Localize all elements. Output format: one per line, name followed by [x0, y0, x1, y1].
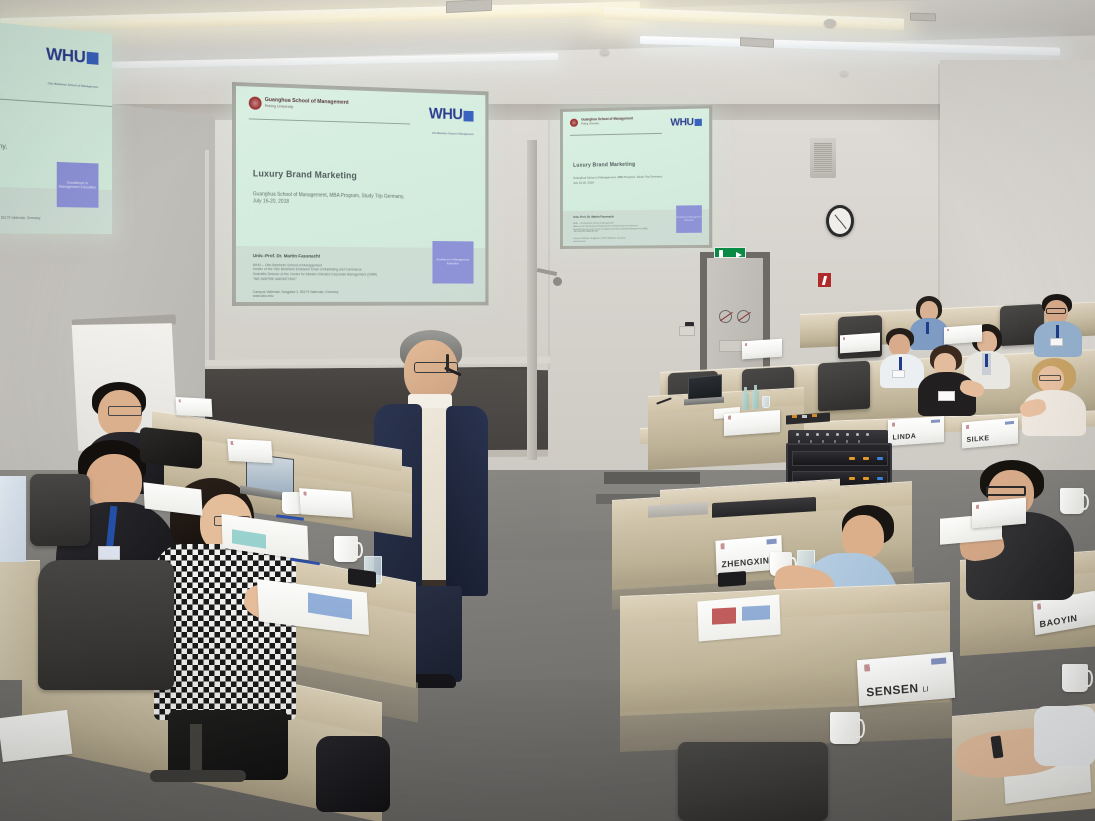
name-tent-back-3: [944, 325, 982, 345]
guanghua-seal-icon: [249, 96, 262, 109]
headset-band: [446, 354, 449, 372]
slide-left-foot: Campus Vallendar, Burgplatz 2, 56179 Val…: [0, 215, 40, 225]
tent-logo-icon: [947, 328, 957, 331]
control-box-led-2: [802, 415, 807, 418]
guanghua-line2: Peking University: [265, 105, 349, 112]
tent-logo-icon: [231, 441, 243, 445]
whu-square-2: [694, 119, 701, 126]
head: [889, 334, 910, 356]
tent-logo-icon: [864, 662, 889, 672]
slide-address-2: Campus Vallendar, Burgplatz 2, 56179 Val…: [573, 237, 625, 243]
phone-on-desk-1[interactable]: [718, 571, 746, 587]
name-tent-sensen: SENSEN LI: [857, 652, 955, 706]
guanghua-logo: Guanghua School of Management Peking Uni…: [249, 96, 349, 112]
bag-on-floor: [140, 427, 202, 470]
whu-logo-2: WHU: [670, 118, 701, 128]
wall-speaker: [810, 138, 836, 178]
exit-door[interactable]: [707, 258, 763, 380]
tent-logo-icon: [303, 491, 317, 496]
name-badge: [98, 546, 120, 560]
tent-logo-icon: [976, 503, 990, 508]
whu-square-left: [86, 52, 98, 65]
lanyard: [1056, 325, 1059, 339]
tent-logo-icon: [720, 542, 737, 549]
slide-presenter-name: Univ.-Prof. Dr. Martin Fassnacht: [253, 253, 320, 258]
backpack-foreground: [316, 736, 390, 812]
tent-logo-icon: [745, 342, 755, 346]
person-foreground-right: [956, 700, 1095, 821]
wall-clock: [826, 205, 854, 237]
chair-left-2[interactable]: [38, 560, 174, 690]
coffee-mug-6: [334, 536, 358, 562]
slide-subtitle-2: Guanghua School of Management, MBA Progr…: [573, 175, 662, 185]
whu-square: [463, 111, 473, 122]
board-side-panel: [527, 140, 537, 460]
name-badge: [892, 370, 905, 378]
guanghua-logo-2: Guanghua School of Management Peking Uni…: [570, 117, 633, 126]
wall-seam-2: [548, 120, 550, 370]
tent-logo-icon: [892, 421, 907, 426]
fire-extinguisher-sign: [817, 272, 832, 288]
drinking-glass-1: [762, 396, 770, 408]
name-tent-left-1: [227, 439, 272, 463]
tent-logo-icon: [1037, 601, 1053, 609]
tent-logo-icon: [178, 399, 187, 402]
smoke-detector-icon-3: [840, 71, 848, 76]
slide-presenter-name-2: Univ.-Prof. Dr. Martin Fassnacht: [573, 216, 614, 219]
tent-name: SENSEN LI: [866, 680, 929, 699]
control-box-led-3: [812, 414, 817, 417]
lanyard: [899, 357, 902, 371]
tent-left-edge: [0, 476, 26, 562]
slide-left-badge: Excellence in Management Education: [57, 162, 98, 208]
floor-step: [604, 472, 700, 484]
tent-logo-right-icon: [1005, 420, 1014, 424]
handout-accent-1: [712, 607, 736, 624]
control-box-led-1: [792, 415, 797, 418]
slide-presenter-details-2: WHU – Otto Beisheim School of Management…: [573, 222, 648, 234]
tent-name: SILKE: [966, 435, 989, 444]
slide-title-2: Luxury Brand Marketing: [573, 162, 635, 169]
chair-left-1[interactable]: [30, 474, 90, 546]
name-tent-far-right-extra: [972, 498, 1026, 529]
whu-tagline-left: Otto Beisheim School of Management: [48, 81, 98, 89]
coffee-mug-4: [830, 712, 860, 744]
whu-wordmark: WHU: [429, 108, 463, 123]
name-tent-linda: LINDA: [888, 416, 944, 446]
glasses: [986, 486, 1026, 496]
sleeve: [1034, 706, 1095, 766]
tent-name: BAOYIN: [1039, 613, 1078, 630]
slide-excellence-badge: Excellence in Management Education: [432, 241, 473, 283]
slide-main: Guanghua School of Management Peking Uni…: [236, 86, 485, 302]
chair-foreground-right[interactable]: [678, 742, 828, 821]
tent-logo-icon: [966, 423, 981, 428]
tent-logo-icon: [843, 336, 853, 340]
slide-title: Luxury Brand Marketing: [253, 168, 357, 180]
slide-secondary: Guanghua School of Management Peking Uni…: [563, 108, 709, 246]
name-badge: [1050, 338, 1063, 346]
tent-logo-right-icon: [931, 657, 947, 665]
chair-left-base: [150, 770, 246, 782]
whu-logo-main: WHU: [429, 108, 474, 123]
ceiling-vent-3: [910, 13, 936, 22]
whu-tagline: Otto Beisheim School of Management: [432, 132, 473, 136]
projection-screen-main: Guanghua School of Management Peking Uni…: [236, 86, 485, 302]
person-back-man-glasses: [1034, 294, 1082, 354]
glasses: [108, 406, 142, 416]
slide-left: WHU Otto Beisheim School of Management u…: [0, 17, 112, 234]
slide-left-partial-text: udy Trip Germany,: [0, 141, 7, 151]
projection-screen-left: WHU Otto Beisheim School of Management u…: [0, 17, 112, 234]
handout-left-edge: [0, 710, 72, 762]
exit-sign: [714, 247, 746, 258]
name-tent-silke: SILKE: [962, 418, 1018, 449]
coffee-mug-2: [1060, 488, 1084, 514]
name-tent-left-2: [299, 488, 353, 518]
slide-rule: [249, 119, 410, 125]
glasses: [1039, 375, 1061, 381]
ceiling-vent-2: [740, 37, 774, 48]
slide-address: Campus Vallendar, Burgplatz 2, 56179 Val…: [253, 290, 339, 299]
lanyard: [985, 354, 988, 367]
wall-control-panel-2[interactable]: [679, 326, 695, 336]
name-badge: [938, 391, 955, 401]
projector-arm-joint: [553, 277, 562, 286]
slide-presenter-details: WHU – Otto Beisheim School of Management…: [253, 263, 377, 282]
glasses: [1046, 308, 1066, 314]
name-tent-back-1: [742, 339, 782, 360]
smoke-detector-icon: [824, 19, 836, 27]
name-tent-left-3: [176, 397, 213, 417]
water-bottle-1: [742, 392, 749, 410]
tent-logo-right-icon: [931, 419, 940, 423]
presenter-jacket-right: [446, 406, 488, 596]
whu-wordmark-left: WHU: [46, 46, 85, 65]
guanghua-seal-icon-2: [570, 118, 578, 126]
handout-accent-2: [742, 605, 770, 620]
lanyard: [926, 322, 929, 334]
tent-logo-icon: [728, 415, 743, 420]
person-woman-blonde: [1020, 358, 1090, 436]
guanghua-line2-2: Peking University: [581, 122, 633, 126]
no-food-icon: [737, 310, 750, 323]
desk-left-edge: [0, 560, 40, 680]
rack-unit-1: [792, 451, 888, 466]
whu-wordmark-2: WHU: [670, 118, 693, 128]
tent-name: LINDA: [892, 433, 916, 442]
whu-logo-left: WHU: [46, 46, 98, 66]
name-tent-back-2: [840, 333, 880, 354]
slide-badge-2: Excellence in Management Education: [677, 205, 702, 232]
chair-mid-3[interactable]: [818, 361, 870, 412]
slide-subtitle: Guanghua School of Management, MBA Progr…: [253, 191, 404, 208]
torso-checkered: [154, 544, 296, 720]
lecture-hall-photo: WHU Otto Beisheim School of Management u…: [0, 0, 1095, 821]
head: [86, 454, 142, 508]
person-woman-black-top: [916, 345, 978, 417]
projection-screen-secondary: Guanghua School of Management Peking Uni…: [563, 108, 709, 246]
name-tent-lectern: [724, 410, 780, 436]
no-smoking-icon: [719, 310, 732, 323]
smoke-detector-icon-2: [600, 49, 609, 55]
coffee-mug-3: [1062, 664, 1088, 692]
water-bottle-2: [752, 390, 759, 409]
